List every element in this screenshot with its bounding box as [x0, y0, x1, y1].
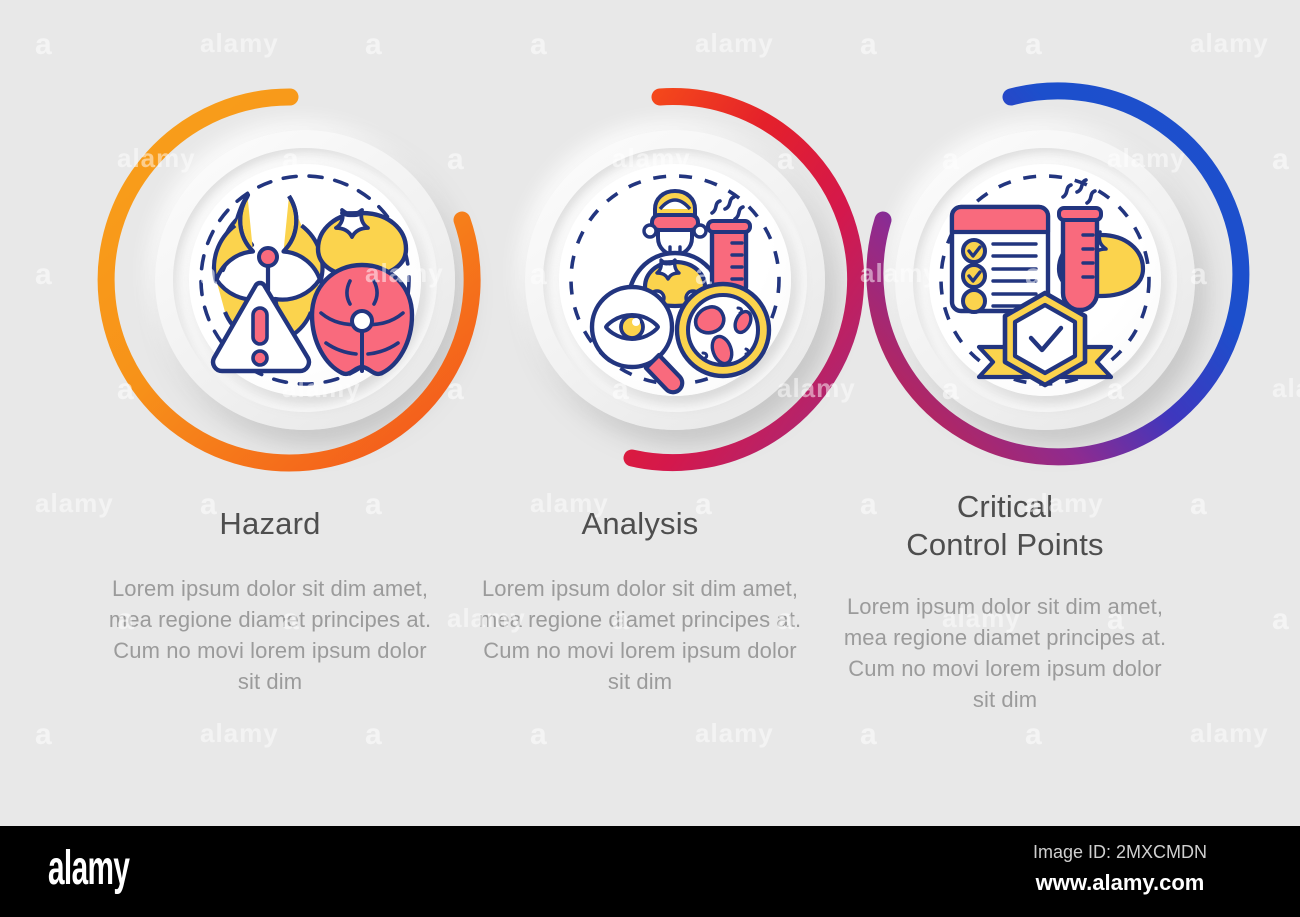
infographic-stage: Hazard Lorem ipsum dolor sit dim amet, m…	[0, 0, 1300, 917]
alamy-logo[interactable]: alamy	[48, 845, 129, 893]
step-node-3[interactable]	[845, 80, 1245, 480]
image-id-label: Image ID: 2MXCMDN	[980, 842, 1260, 863]
step-title-1: Hazard	[100, 505, 440, 543]
caption-column-1: Hazard Lorem ipsum dolor sit dim amet, m…	[100, 505, 440, 697]
step-node-1[interactable]	[105, 80, 505, 480]
plate-mid-2	[543, 148, 807, 412]
caption-column-3: Critical Control Points Lorem ipsum dolo…	[835, 505, 1175, 715]
caption-column-2: Analysis Lorem ipsum dolor sit dim amet,…	[470, 505, 810, 697]
step-title-2: Analysis	[470, 505, 810, 543]
checklist-test-tube-shield-badge-icon	[930, 165, 1160, 395]
lab-inspector-microscope-petri-dish-icon	[560, 165, 790, 395]
step-title-3-line1: Critical	[957, 489, 1053, 524]
plate-inner-3	[929, 164, 1161, 396]
biohazard-warning-salmon-tomato-icon	[190, 165, 420, 395]
plate-inner-1	[189, 164, 421, 396]
step-title-3-line2: Control Points	[906, 527, 1104, 562]
step-title-3: Critical Control Points	[835, 488, 1175, 564]
step-body-2: Lorem ipsum dolor sit dim amet, mea regi…	[470, 573, 810, 697]
plate-mid-3	[913, 148, 1177, 412]
plate-outer-1	[155, 130, 455, 430]
step-captions: Hazard Lorem ipsum dolor sit dim amet, m…	[0, 505, 1300, 805]
alamy-footer-bar: alamy Image ID: 2MXCMDN www.alamy.com	[0, 826, 1300, 917]
plate-outer-2	[525, 130, 825, 430]
plate-mid-1	[173, 148, 437, 412]
plate-inner-2	[559, 164, 791, 396]
plate-outer-3	[895, 130, 1195, 430]
step-node-2[interactable]	[475, 80, 875, 480]
step-body-3: Lorem ipsum dolor sit dim amet, mea regi…	[835, 591, 1175, 715]
website-label[interactable]: www.alamy.com	[980, 870, 1260, 896]
step-body-1: Lorem ipsum dolor sit dim amet, mea regi…	[100, 573, 440, 697]
